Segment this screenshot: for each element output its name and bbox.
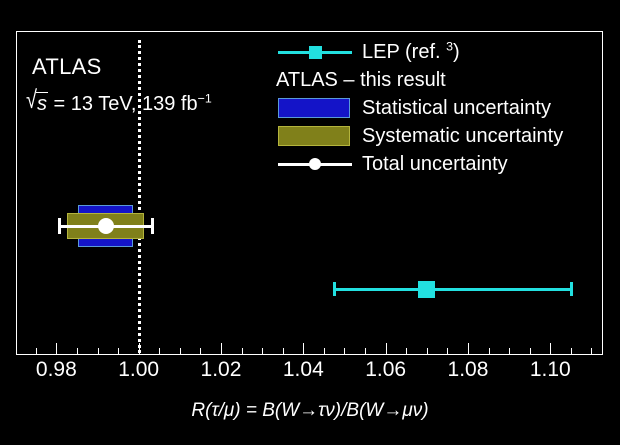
legend-lep-reference-sup: 3 [446, 39, 453, 53]
legend-label-lep: LEP (ref. 3) [362, 42, 460, 62]
x-axis-tick-minor [509, 348, 510, 354]
luminosity-exponent: −1 [198, 91, 212, 105]
x-axis-tick-minor [118, 348, 119, 354]
sqrt-s-symbol: √s [24, 92, 48, 116]
legend-item-statistical: Statistical uncertainty [276, 94, 596, 122]
x-axis-tick-minor [489, 348, 490, 354]
reference-line-unity [138, 40, 141, 353]
x-axis-tick-minor [406, 348, 407, 354]
legend-item-lep: LEP (ref. 3) [276, 38, 596, 66]
luminosity-text: = 13 TeV, 139 fb [48, 93, 198, 115]
x-axis-tick-minor [591, 348, 592, 354]
x-axis-tick-major [221, 343, 222, 354]
systematic-swatch-icon [276, 125, 354, 147]
sqrt-s-radicand: s [36, 92, 48, 116]
x-axis-tick-minor [447, 348, 448, 354]
x-axis-tick-minor [98, 348, 99, 354]
total-marker-icon [276, 153, 354, 175]
x-axis-tick-label: 1.00 [118, 358, 159, 382]
x-axis-tick-minor [530, 348, 531, 354]
x-axis-tick-major [139, 343, 140, 354]
lep-marker-icon [276, 41, 354, 63]
x-axis-tick-major [468, 343, 469, 354]
x-axis-tick-minor [262, 348, 263, 354]
x-axis-tick-minor [344, 348, 345, 354]
atlas-data-point-marker [98, 218, 114, 234]
x-axis-tick-minor [571, 348, 572, 354]
x-axis-tick-minor [159, 348, 160, 354]
lep-total-errorbar [333, 288, 573, 291]
atlas-watermark-label: ATLAS [32, 54, 102, 80]
x-axis-tick-minor [324, 348, 325, 354]
statistical-swatch-icon [276, 97, 354, 119]
legend-label-total: Total uncertainty [362, 154, 508, 174]
atlas-errorbar-cap-left [58, 218, 61, 234]
legend-label-systematic: Systematic uncertainty [362, 126, 563, 146]
x-axis-tick-major [56, 343, 57, 354]
legend-item-total: Total uncertainty [276, 150, 596, 178]
x-axis-tick-major [303, 343, 304, 354]
legend-label-statistical: Statistical uncertainty [362, 98, 551, 118]
atlas-errorbar-cap-right [151, 218, 154, 234]
x-axis-tick-minor [427, 348, 428, 354]
x-axis-tick-label: 0.98 [36, 358, 77, 382]
lep-errorbar-cap-left [333, 282, 336, 296]
x-axis-tick-label: 1.06 [365, 358, 406, 382]
x-axis-tick-minor [36, 348, 37, 354]
x-axis-tick-minor [242, 348, 243, 354]
x-axis-tick-major [550, 343, 551, 354]
legend-item-systematic: Systematic uncertainty [276, 122, 596, 150]
x-axis-tick-minor [200, 348, 201, 354]
x-axis-tick-label: 1.10 [530, 358, 571, 382]
lep-data-point-marker [418, 281, 435, 298]
legend: LEP (ref. 3) ATLAS – this result Statist… [276, 38, 596, 178]
x-axis-tick-minor [283, 348, 284, 354]
x-axis-tick-label: 1.02 [201, 358, 242, 382]
x-axis-tick-major [386, 343, 387, 354]
x-axis-title: R(τ/μ) = B(W→τν)/B(W→μν) [0, 400, 620, 422]
luminosity-label: √s = 13 TeV, 139 fb−1 [24, 92, 212, 116]
chart-root: ATLAS √s = 13 TeV, 139 fb−1 LEP (ref. 3)… [0, 0, 620, 445]
x-axis-tick-minor [180, 348, 181, 354]
x-axis-tick-label: 1.08 [448, 358, 489, 382]
x-axis-tick-minor [77, 348, 78, 354]
lep-errorbar-cap-right [570, 282, 573, 296]
x-axis-tick-label: 1.04 [283, 358, 324, 382]
legend-header-atlas: ATLAS – this result [276, 66, 596, 94]
x-axis-tick-minor [365, 348, 366, 354]
